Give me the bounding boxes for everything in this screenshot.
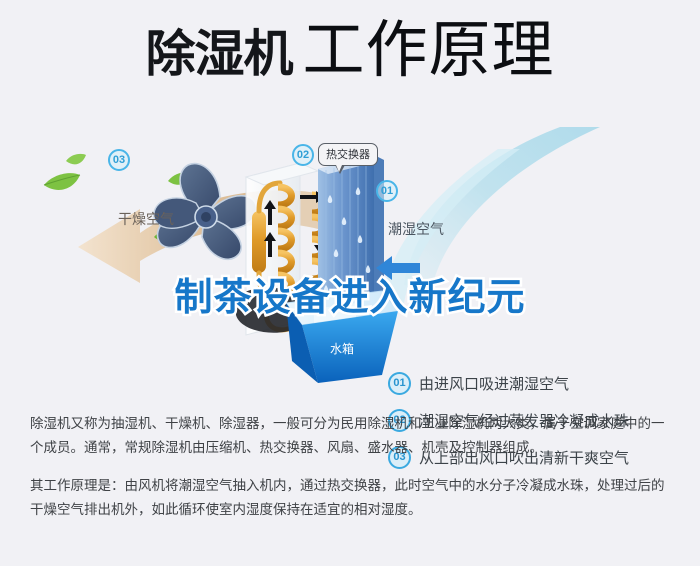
body-paragraph-1: 除湿机又称为抽湿机、干燥机、除湿器，一般可分为民用除湿机和工业除湿机两大类，属于… — [30, 412, 675, 460]
page-title: 除湿机工作原理 — [0, 20, 700, 82]
legend-text-01: 由进风口吸进潮湿空气 — [419, 373, 569, 394]
label-humid-air: 潮湿空气 — [388, 219, 444, 239]
label-dry-air: 干燥空气 — [118, 209, 174, 229]
label-water-tank: 水箱 — [330, 340, 354, 357]
diagram-badge-01: 01 — [376, 180, 398, 202]
legend-item: 01 由进风口吸进潮湿空气 — [388, 371, 688, 395]
overlay-headline: 制茶设备进入新纪元 — [0, 266, 700, 321]
diagram-badge-03: 03 — [108, 149, 130, 171]
callout-heat-exchanger: 热交换器 — [318, 143, 378, 166]
body-paragraph-2: 其工作原理是：由风机将潮湿空气抽入机内，通过热交换器，此时空气中的水分子冷凝成水… — [30, 474, 675, 522]
page-root: 除湿机工作原理 — [0, 0, 700, 566]
overlay-headline-text: 制茶设备进入新纪元 — [174, 266, 525, 321]
diagram-illustration — [0, 125, 700, 400]
dehumidifier-diagram: 干燥空气 潮湿空气 水箱 03 02 01 热交换器 01 由进风口吸进潮湿空气… — [0, 125, 700, 400]
legend-badge-01: 01 — [388, 372, 411, 395]
page-title-part1: 除湿机 — [145, 26, 292, 82]
page-title-part2: 工作原理 — [302, 16, 554, 85]
body-copy: 除湿机又称为抽湿机、干燥机、除湿器，一般可分为民用除湿机和工业除湿机两大类，属于… — [30, 412, 675, 536]
diagram-badge-02: 02 — [292, 144, 314, 166]
